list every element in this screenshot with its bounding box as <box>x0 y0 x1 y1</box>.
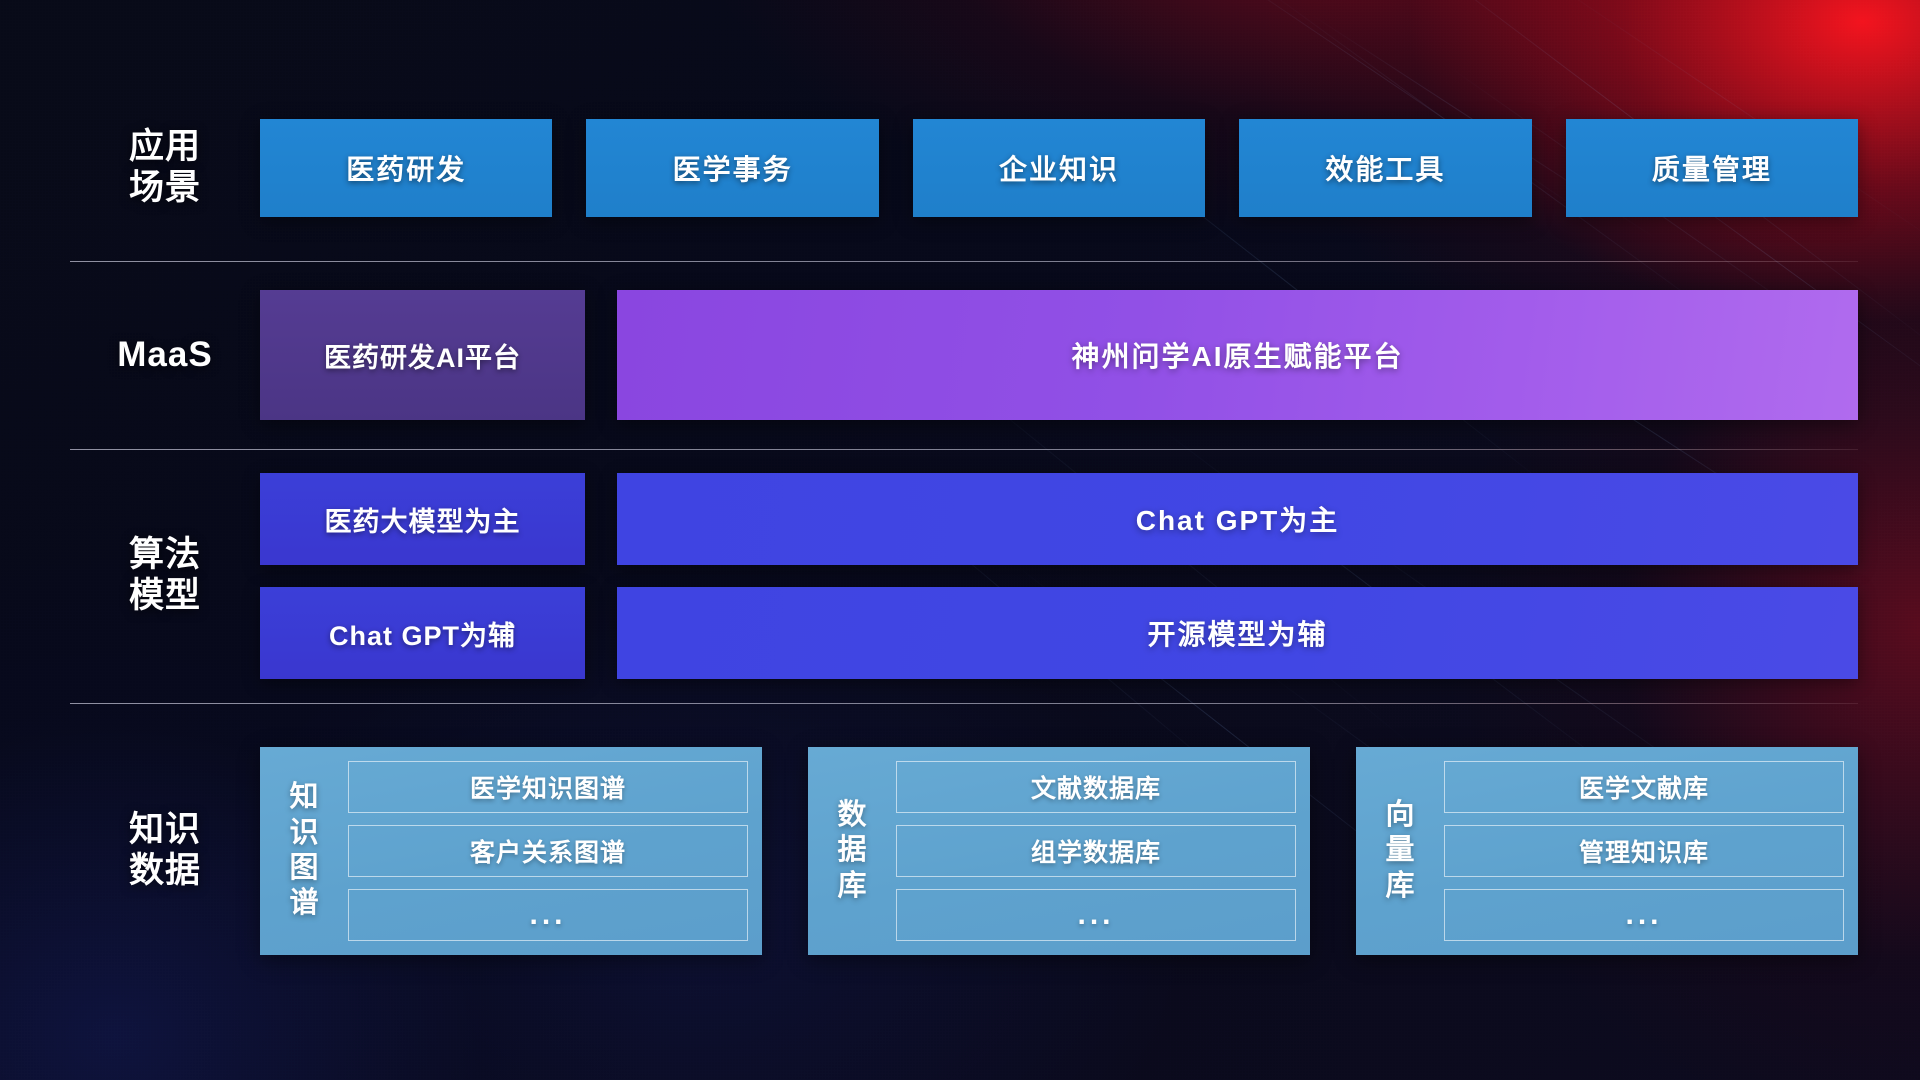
application-card[interactable]: 医药研发 <box>260 119 552 217</box>
architecture-diagram: 应用 场景 医药研发医学事务企业知识效能工具质量管理 MaaS 医药研发AI平台… <box>0 0 1920 1080</box>
knowledge-item-list: 医学文献库管理知识库... <box>1434 761 1844 941</box>
application-card[interactable]: 企业知识 <box>913 119 1205 217</box>
knowledge-item[interactable]: ... <box>348 889 748 941</box>
layer-label-algorithm: 算法 模型 <box>70 535 260 616</box>
divider-algorithm-knowledge <box>70 703 1858 704</box>
maas-card-pharma-ai-platform[interactable]: 医药研发AI平台 <box>260 290 585 420</box>
knowledge-item[interactable]: 医学文献库 <box>1444 761 1844 813</box>
divider-maas-algorithm <box>70 449 1858 450</box>
knowledge-item-list: 医学知识图谱客户关系图谱... <box>338 761 748 941</box>
knowledge-panel-list: 知 识 图 谱医学知识图谱客户关系图谱...数 据 库文献数据库组学数据库...… <box>260 747 1858 955</box>
application-card-list: 医药研发医学事务企业知识效能工具质量管理 <box>260 119 1858 217</box>
layer-row-maas: MaaS 医药研发AI平台 神州问学AI原生赋能平台 <box>0 290 1920 420</box>
knowledge-panel-title: 向 量 库 <box>1372 761 1434 941</box>
knowledge-panel-title: 数 据 库 <box>824 761 886 941</box>
knowledge-item[interactable]: 管理知识库 <box>1444 825 1844 877</box>
knowledge-panel: 数 据 库文献数据库组学数据库... <box>808 747 1310 955</box>
application-card[interactable]: 质量管理 <box>1566 119 1858 217</box>
algorithm-card-opensource-secondary[interactable]: 开源模型为辅 <box>617 587 1858 679</box>
layer-row-knowledge: 知识 数据 知 识 图 谱医学知识图谱客户关系图谱...数 据 库文献数据库组学… <box>0 730 1920 972</box>
application-card[interactable]: 医学事务 <box>586 119 878 217</box>
layer-row-application: 应用 场景 医药研发医学事务企业知识效能工具质量管理 <box>0 108 1920 228</box>
knowledge-panel: 知 识 图 谱医学知识图谱客户关系图谱... <box>260 747 762 955</box>
application-card[interactable]: 效能工具 <box>1239 119 1531 217</box>
knowledge-item-list: 文献数据库组学数据库... <box>886 761 1296 941</box>
layer-row-algorithm: 算法 模型 医药大模型为主 Chat GPT为主 Chat GPT为辅 开源模型… <box>0 470 1920 682</box>
maas-card-shenzhou-wenxue-platform[interactable]: 神州问学AI原生赋能平台 <box>617 290 1858 420</box>
knowledge-panel-title: 知 识 图 谱 <box>276 761 338 941</box>
layer-label-application: 应用 场景 <box>70 127 260 208</box>
knowledge-item[interactable]: 医学知识图谱 <box>348 761 748 813</box>
algorithm-card-chatgpt-secondary[interactable]: Chat GPT为辅 <box>260 587 585 679</box>
knowledge-item[interactable]: ... <box>896 889 1296 941</box>
knowledge-item[interactable]: 文献数据库 <box>896 761 1296 813</box>
layer-label-knowledge: 知识 数据 <box>70 810 260 891</box>
layer-label-maas: MaaS <box>70 335 260 376</box>
divider-application-maas <box>70 261 1858 262</box>
knowledge-panel: 向 量 库医学文献库管理知识库... <box>1356 747 1858 955</box>
knowledge-item[interactable]: ... <box>1444 889 1844 941</box>
knowledge-item[interactable]: 客户关系图谱 <box>348 825 748 877</box>
algorithm-card-chatgpt-primary[interactable]: Chat GPT为主 <box>617 473 1858 565</box>
algorithm-card-pharma-llm-primary[interactable]: 医药大模型为主 <box>260 473 585 565</box>
knowledge-item[interactable]: 组学数据库 <box>896 825 1296 877</box>
